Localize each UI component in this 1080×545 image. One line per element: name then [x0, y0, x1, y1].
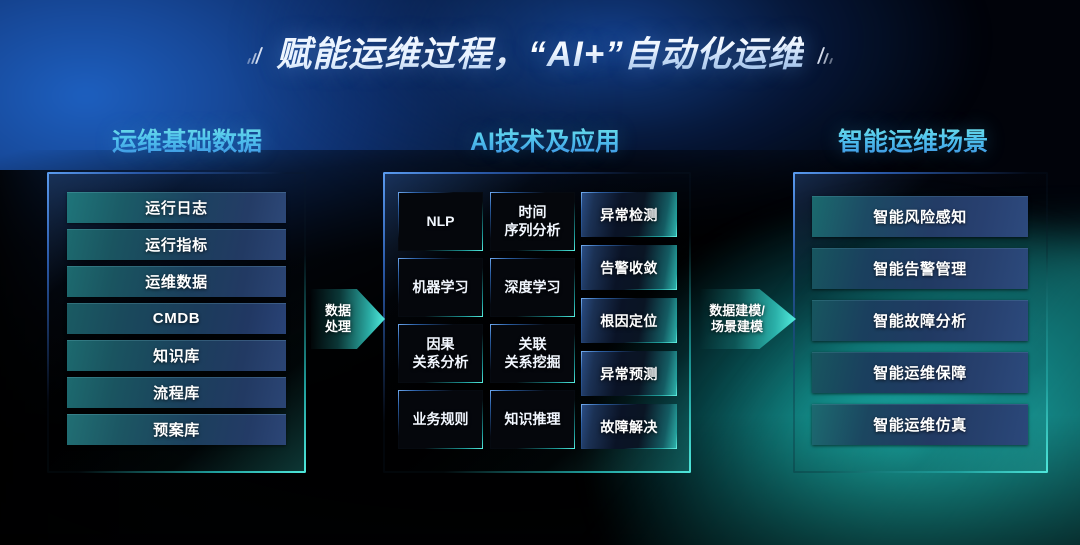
- page-title: 赋能运维过程，“AI+”自动化运维: [276, 26, 803, 77]
- list-item[interactable]: 智能风险感知: [812, 196, 1028, 237]
- grid-cell[interactable]: 关联关系挖掘: [490, 324, 575, 383]
- item-label: 知识库: [153, 345, 200, 366]
- item-label: 故障解决: [600, 417, 658, 437]
- cell-label: 知识推理: [505, 411, 561, 428]
- list-item[interactable]: 根因定位: [581, 298, 677, 343]
- list-item[interactable]: 告警收敛: [581, 245, 677, 290]
- arrow-label: 数据 处理: [311, 289, 385, 349]
- column-heading-base-data: 运维基础数据: [112, 122, 262, 158]
- base-data-list: 运行日志 运行指标 运维数据 CMDB 知识库 流程库 预案库: [67, 192, 286, 451]
- item-label: 运行日志: [145, 197, 207, 218]
- cell-label: 机器学习: [413, 279, 469, 296]
- cell-label: 业务规则: [413, 411, 469, 428]
- scenario-list: 智能风险感知 智能告警管理 智能故障分析 智能运维保障 智能运维仿真: [812, 196, 1028, 456]
- item-label: 根因定位: [600, 311, 658, 331]
- ai-technique-grid: NLP 时间序列分析 机器学习 深度学习 因果关系分析 关联关系挖掘 业务规则 …: [398, 192, 575, 449]
- list-item[interactable]: 异常检测: [581, 192, 677, 237]
- list-item[interactable]: 运行日志: [67, 192, 286, 223]
- list-item[interactable]: 运维数据: [67, 266, 286, 297]
- list-item[interactable]: 运行指标: [67, 229, 286, 260]
- list-item[interactable]: 流程库: [67, 377, 286, 408]
- cell-label: 关联关系挖掘: [505, 336, 561, 370]
- flow-arrow-modeling: 数据建模/ 场景建模: [700, 289, 796, 349]
- list-item[interactable]: CMDB: [67, 303, 286, 334]
- item-label: 智能故障分析: [873, 310, 967, 331]
- item-label: 流程库: [153, 382, 200, 403]
- grid-cell[interactable]: 深度学习: [490, 258, 575, 317]
- item-label: 智能告警管理: [873, 258, 967, 279]
- item-label: 智能风险感知: [873, 206, 967, 227]
- arrow-label-line2: 场景建模: [711, 319, 763, 335]
- cell-label: 深度学习: [505, 279, 561, 296]
- cell-label: NLP: [427, 213, 455, 230]
- title-right-accent-icon: [820, 38, 832, 64]
- list-item[interactable]: 预案库: [67, 414, 286, 445]
- flow-arrow-data-processing: 数据 处理: [311, 289, 385, 349]
- item-label: 预案库: [153, 419, 200, 440]
- cell-label: 因果关系分析: [413, 336, 469, 370]
- column-heading-ai-tech: AI技术及应用: [470, 122, 620, 158]
- cell-label: 时间序列分析: [505, 204, 561, 238]
- slide-title-bar: 赋能运维过程，“AI+”自动化运维: [0, 22, 1080, 80]
- list-item[interactable]: 智能告警管理: [812, 248, 1028, 289]
- grid-cell[interactable]: 因果关系分析: [398, 324, 483, 383]
- item-label: 运行指标: [145, 234, 207, 255]
- item-label: 异常预测: [600, 364, 658, 384]
- grid-cell[interactable]: 业务规则: [398, 390, 483, 449]
- list-item[interactable]: 异常预测: [581, 351, 677, 396]
- list-item[interactable]: 知识库: [67, 340, 286, 371]
- arrow-label-line2: 处理: [325, 319, 351, 335]
- arrow-label-line1: 数据建模/: [709, 303, 765, 319]
- arrow-label: 数据建模/ 场景建模: [700, 289, 796, 349]
- item-label: 智能运维保障: [873, 362, 967, 383]
- item-label: 智能运维仿真: [873, 414, 967, 435]
- list-item[interactable]: 智能运维保障: [812, 352, 1028, 393]
- item-label: 告警收敛: [600, 258, 658, 278]
- arrow-label-line1: 数据: [325, 303, 351, 319]
- grid-cell[interactable]: 时间序列分析: [490, 192, 575, 251]
- grid-cell[interactable]: NLP: [398, 192, 483, 251]
- list-item[interactable]: 智能运维仿真: [812, 404, 1028, 445]
- item-label: 运维数据: [145, 271, 207, 292]
- item-label: CMDB: [153, 310, 200, 327]
- grid-cell[interactable]: 知识推理: [490, 390, 575, 449]
- ai-outcome-list: 异常检测 告警收敛 根因定位 异常预测 故障解决: [581, 192, 677, 457]
- title-left-accent-icon: [248, 38, 260, 64]
- list-item[interactable]: 故障解决: [581, 404, 677, 449]
- item-label: 异常检测: [600, 205, 658, 225]
- column-heading-scenarios: 智能运维场景: [838, 122, 988, 158]
- list-item[interactable]: 智能故障分析: [812, 300, 1028, 341]
- grid-cell[interactable]: 机器学习: [398, 258, 483, 317]
